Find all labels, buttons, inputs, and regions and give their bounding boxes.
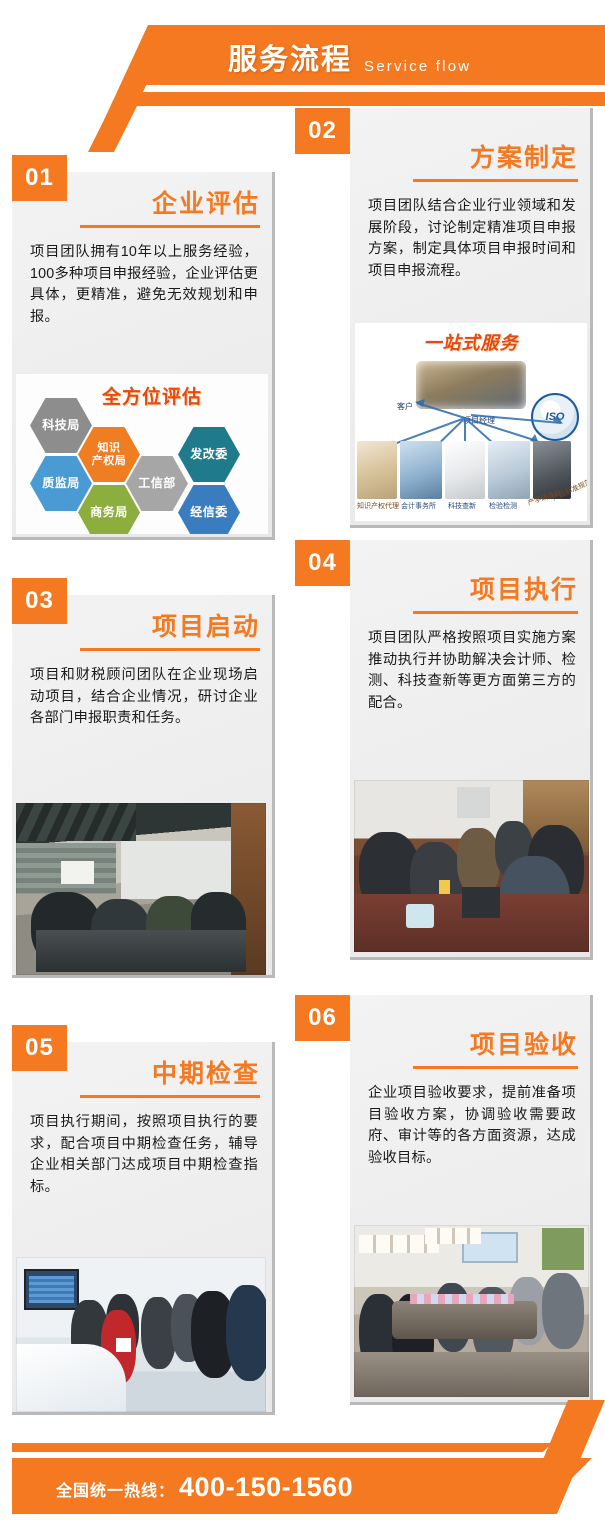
card-05[interactable]: 05 中期检查 项目执行期间，按照项目执行的要求，配合项目中期检查任务，辅导企业… <box>12 1025 275 1415</box>
page-header: 服务流程 Service flow <box>0 0 605 120</box>
card-04-description: 项目团队严格按照项目实施方案推动执行并协助解决会计师、检测、科技查新等更方面第三… <box>350 614 590 715</box>
footer-stripe <box>12 1443 552 1452</box>
card-06[interactable]: 06 项目验收 企业项目验收要求，提前准备项目验收方案，协调验收需要政府、审计等… <box>295 995 593 1405</box>
card-02-title: 方案制定 <box>350 138 590 174</box>
card-04-title: 项目执行 <box>350 570 590 606</box>
header-title-group: 服务流程 Service flow <box>228 36 471 78</box>
hexagon-chart: 全方位评估 科技局 质监局 知识产权局 商务局 工信部 发改委 经信委 <box>16 374 268 534</box>
card-02-number: 02 <box>295 108 350 154</box>
card-04[interactable]: 04 项目执行 项目团队严格按照项目实施方案推动执行并协助解决会计师、检测、科技… <box>295 540 593 960</box>
card-01[interactable]: 01 企业评估 项目团队拥有10年以上服务经验，100多种项目申报经验，企业评估… <box>12 155 275 540</box>
service-node-label-2: 会计事务所 <box>401 501 436 511</box>
card-05-number: 05 <box>12 1025 67 1071</box>
hex-node-jingxin[interactable]: 经信委 <box>178 485 240 534</box>
card-04-body: 项目执行 项目团队严格按照项目实施方案推动执行并协助解决会计师、检测、科技查新等… <box>350 540 593 960</box>
card-06-body: 项目验收 企业项目验收要求，提前准备项目验收方案，协调验收需要政府、审计等的各方… <box>350 995 593 1405</box>
card-03[interactable]: 03 项目启动 项目和财税顾问团队在企业现场启动项目，结合企业情况，研讨企业各部… <box>12 578 275 978</box>
hex-node-keji[interactable]: 科技局 <box>30 398 92 453</box>
card-02-body: 方案制定 项目团队结合企业行业领域和发展阶段，讨论制定精准项目申报方案，制定具体… <box>350 108 593 528</box>
card-05-description: 项目执行期间，按照项目执行的要求，配合项目中期检查任务，辅导企业相关部门达成项目… <box>12 1098 272 1199</box>
card-03-body: 项目启动 项目和财税顾问团队在企业现场启动项目，结合企业情况，研讨企业各部门申报… <box>12 595 275 978</box>
service-node-label-3: 科技查新 <box>448 501 476 511</box>
service-thumb-4 <box>488 441 530 499</box>
card-02-figure: 一站式服务 客户 项目经理 ISO <box>355 323 587 521</box>
card-03-photo <box>16 803 266 975</box>
card-04-photo <box>354 780 589 952</box>
hex-node-zhijian[interactable]: 质监局 <box>30 456 92 511</box>
hex-node-zhishichanquan[interactable]: 知识产权局 <box>78 427 140 482</box>
card-05-photo <box>16 1257 266 1412</box>
card-03-number: 03 <box>12 578 67 624</box>
service-thumb-1 <box>357 441 397 499</box>
hex-node-gongxin[interactable]: 工信部 <box>126 456 188 511</box>
service-diagram: 一站式服务 客户 项目经理 ISO <box>355 323 587 521</box>
card-03-description: 项目和财税顾问团队在企业现场启动项目，结合企业情况，研讨企业各部门申报职责和任务… <box>12 651 272 730</box>
hex-node-shangwu[interactable]: 商务局 <box>78 485 140 534</box>
footer-hotline-number[interactable]: 400-150-1560 <box>179 1472 353 1503</box>
footer-hotline: 全国统一热线： 400-150-1560 <box>56 1472 353 1503</box>
card-06-number: 06 <box>295 995 350 1041</box>
card-01-description: 项目团队拥有10年以上服务经验，100多种项目申报经验，企业评估更具体，更精准，… <box>12 228 272 329</box>
card-04-number: 04 <box>295 540 350 586</box>
card-06-description: 企业项目验收要求，提前准备项目验收方案，协调验收需要政府、审计等的各方面资源，达… <box>350 1069 590 1170</box>
card-01-number: 01 <box>12 155 67 201</box>
card-02[interactable]: 02 方案制定 项目团队结合企业行业领域和发展阶段，讨论制定精准项目申报方案，制… <box>295 108 593 528</box>
card-01-body: 企业评估 项目团队拥有10年以上服务经验，100多种项目申报经验，企业评估更具体… <box>12 172 275 540</box>
hex-node-fagai[interactable]: 发改委 <box>178 427 240 482</box>
card-02-description: 项目团队结合企业行业领域和发展阶段，讨论制定精准项目申报方案，制定具体项目申报时… <box>350 182 590 283</box>
card-06-photo <box>354 1225 589 1397</box>
card-06-title: 项目验收 <box>350 1025 590 1061</box>
header-stripe <box>118 92 605 106</box>
card-05-body: 中期检查 项目执行期间，按照项目执行的要求，配合项目中期检查任务，辅导企业相关部… <box>12 1042 275 1415</box>
service-node-label-4: 检验检测 <box>489 501 517 511</box>
service-node-label-1: 知识产权代理 <box>357 501 399 511</box>
footer-hotline-label: 全国统一热线： <box>56 1477 175 1501</box>
page-subtitle: Service flow <box>364 58 471 78</box>
page-title: 服务流程 <box>228 36 352 78</box>
infographic-page: 服务流程 Service flow 01 企业评估 项目团队拥有10年以上服务经… <box>0 0 605 1538</box>
service-thumb-2 <box>400 441 442 499</box>
service-thumb-3 <box>445 441 485 499</box>
hexagon-chart-title: 全方位评估 <box>102 382 202 409</box>
card-01-figure: 全方位评估 科技局 质监局 知识产权局 商务局 工信部 发改委 经信委 <box>16 374 268 534</box>
